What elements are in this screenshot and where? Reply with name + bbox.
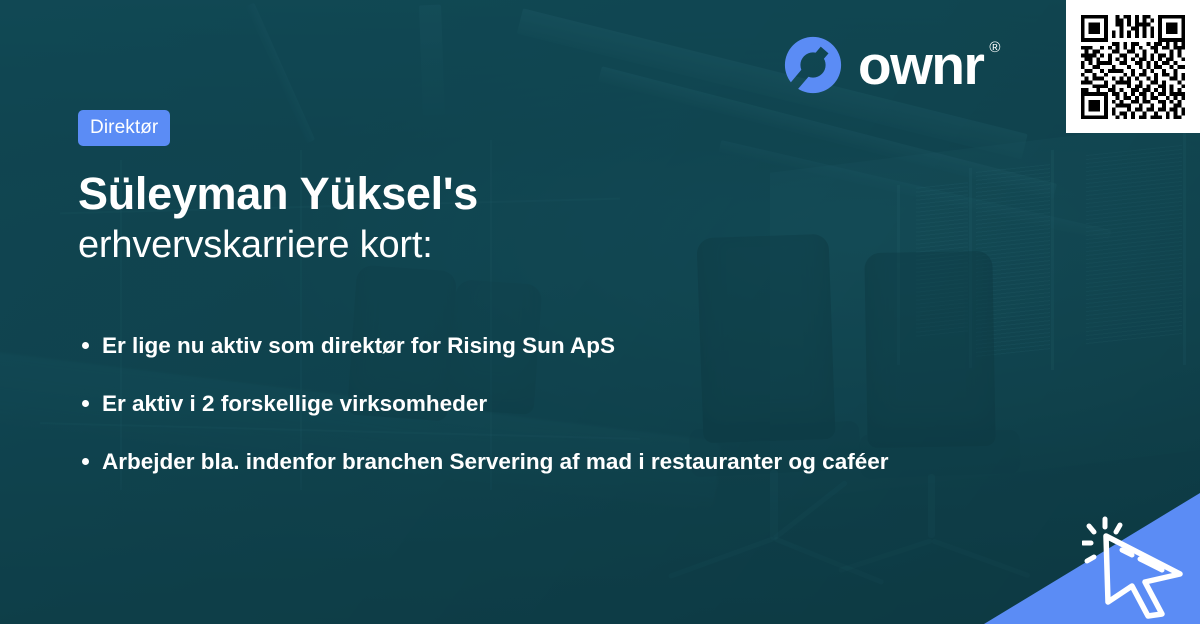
business-card-banner: ownr® (0, 0, 1200, 624)
career-facts-list: Er lige nu aktiv som direktør for Rising… (78, 330, 938, 478)
page-title-subtitle: erhvervskarriere kort: (78, 223, 938, 268)
list-item: Arbejder bla. indenfor branchen Serverin… (78, 446, 932, 478)
click-cursor-icon (1082, 516, 1194, 620)
ownr-circle-swirl-logo-icon (782, 34, 844, 96)
list-item-text: Er aktiv i 2 forskellige virksomheder (102, 391, 487, 416)
ownr-wordmark: ownr® (858, 38, 983, 93)
bullet-dot-icon (82, 458, 89, 465)
bullet-dot-icon (82, 342, 89, 349)
page-title: Süleyman Yüksel's erhvervskarriere kort: (78, 169, 938, 268)
list-item-text: Arbejder bla. indenfor branchen Serverin… (102, 449, 888, 474)
card-content: Direktør Süleyman Yüksel's erhvervskarri… (78, 110, 938, 494)
list-item: Er lige nu aktiv som direktør for Rising… (78, 330, 932, 362)
role-badge: Direktør (78, 110, 170, 146)
ownr-wordmark-text: ownr (858, 34, 983, 96)
registered-trademark-symbol: ® (989, 40, 1000, 55)
qr-code-card[interactable] (1066, 0, 1200, 133)
list-item-text: Er lige nu aktiv som direktør for Rising… (102, 333, 615, 358)
bullet-dot-icon (82, 400, 89, 407)
qr-code-icon (1077, 11, 1189, 123)
ownr-logo[interactable]: ownr® (782, 34, 983, 96)
list-item: Er aktiv i 2 forskellige virksomheder (78, 388, 932, 420)
page-title-name: Süleyman Yüksel's (78, 169, 938, 219)
